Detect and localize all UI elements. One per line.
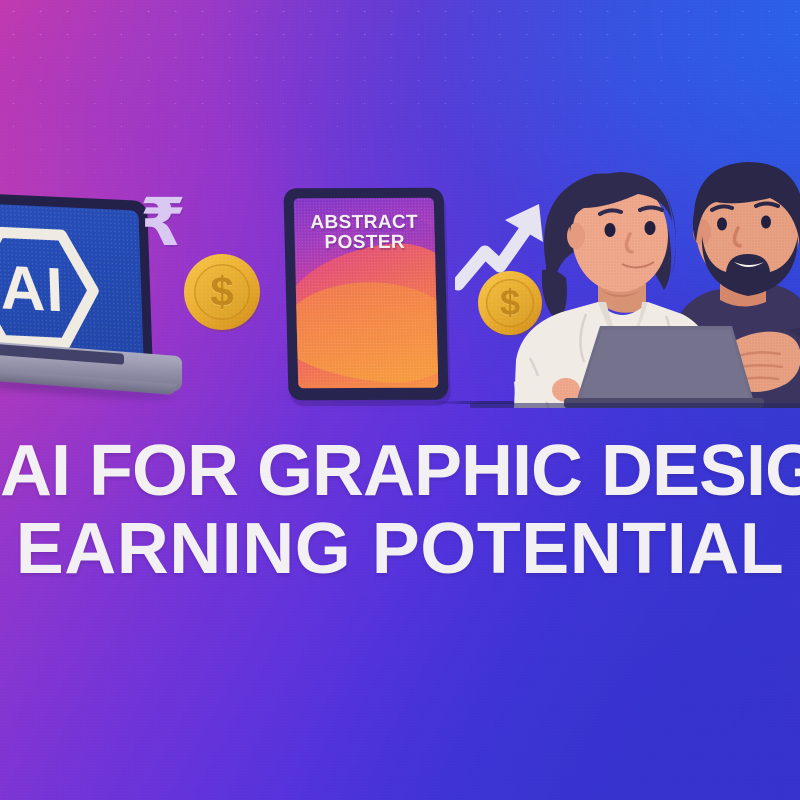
poster-title-line2: POSTER <box>295 233 436 254</box>
tablet-screen: ABSTRACT POSTER <box>294 198 439 388</box>
page-title: AI FOR GRAPHIC DESIGN EARNING POTENTIAL <box>0 432 800 588</box>
promo-banner: AI ₹ $ ABSTRACT POSTER <box>0 0 800 800</box>
dollar-coin-left-icon: $ <box>184 254 260 330</box>
man-eye-left <box>717 218 727 231</box>
woman-ear <box>567 223 585 249</box>
laptop-lid: AI <box>0 191 153 370</box>
coin-grain <box>184 254 260 330</box>
headline-line-2: EARNING POTENTIAL <box>0 510 800 588</box>
abstract-poster-tablet: ABSTRACT POSTER <box>286 188 446 400</box>
woman-eye-left <box>605 223 616 237</box>
poster-title-line1: ABSTRACT <box>294 213 435 234</box>
people-illustration <box>470 150 800 408</box>
headline-line-1: AI FOR GRAPHIC DESIGN <box>0 432 800 510</box>
svg-text:AI: AI <box>0 253 66 325</box>
rupee-icon: ₹ <box>140 190 186 256</box>
man-eye-right <box>761 216 771 229</box>
woman-eye-right <box>645 221 656 235</box>
table-edge <box>470 403 800 408</box>
ai-hexagon-logo: AI <box>0 224 118 352</box>
laptop-screen: AI <box>0 201 143 358</box>
poster-title: ABSTRACT POSTER <box>294 213 435 254</box>
